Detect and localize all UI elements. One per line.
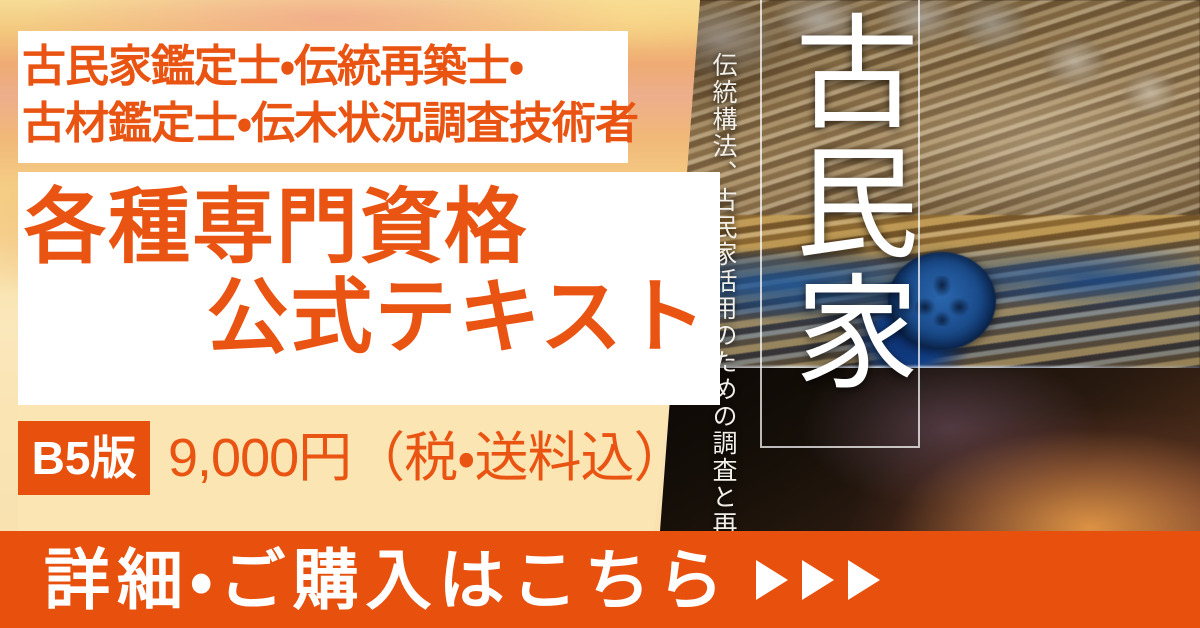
format-badge: B5版 (18, 421, 150, 495)
cover-title-vertical: 古民家 (779, 8, 908, 398)
main-title-line-1: 各種専門資格 (24, 183, 714, 273)
price-amount: 9,000円（税・送料込） (168, 431, 687, 485)
play-arrow-icon-3 (844, 558, 882, 602)
main-title: 各種専門資格 公式テキスト (24, 183, 714, 363)
play-arrow-icon-2 (798, 558, 836, 602)
cta-label[interactable]: 詳細・ご購入はこちら (44, 547, 730, 613)
headline-line-1: 古民家鑑定士・伝統再築士・ (22, 38, 622, 95)
headline-line-2: 古材鑑定士・伝木状況調査技術者 (22, 95, 622, 152)
cta-arrow-group (752, 558, 882, 602)
main-title-line-2: 公式テキスト (24, 273, 714, 363)
promo-banner: 古民家 伝統構法、古民家活用のための調査と再生の 古民家鑑定士・伝統再築士・ 古… (0, 0, 1200, 628)
price-row: B5版 9,000円（税・送料込） (18, 421, 687, 495)
play-arrow-icon-1 (752, 558, 790, 602)
qualification-headline: 古民家鑑定士・伝統再築士・ 古材鑑定士・伝木状況調査技術者 (22, 38, 622, 152)
cta-bar[interactable]: 詳細・ご購入はこちら (0, 531, 1200, 628)
